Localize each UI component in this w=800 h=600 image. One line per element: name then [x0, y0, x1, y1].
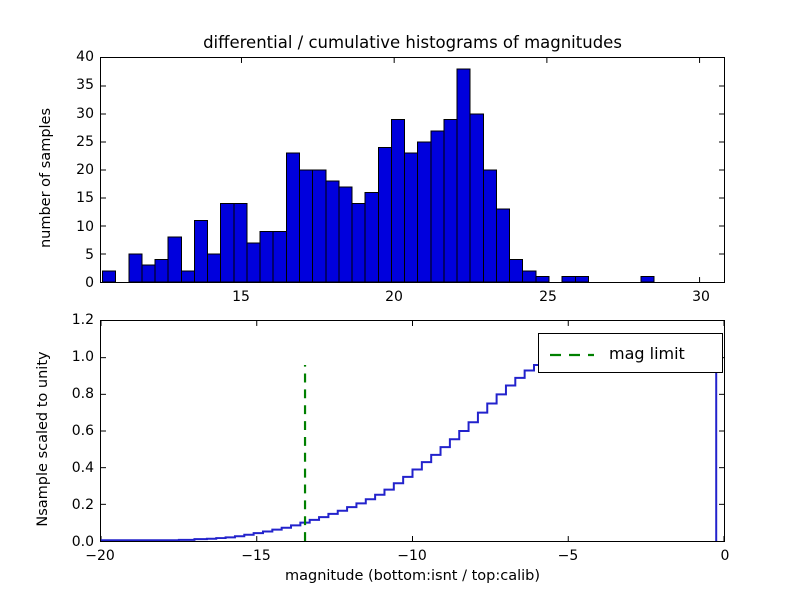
ytick-label-bottom: 0.6 — [72, 423, 94, 439]
differential-histogram-axes — [100, 57, 725, 283]
ytick-label-top: 0 — [85, 275, 94, 291]
ytick-label-bottom: 0.4 — [72, 460, 94, 476]
page-title: differential / cumulative histograms of … — [100, 33, 725, 52]
xtick-label-bottom: −10 — [397, 548, 427, 564]
ytick-label-top: 30 — [76, 106, 94, 122]
ytick-label-top: 40 — [76, 49, 94, 65]
yaxis-label-bottom: Nsample scaled to unity — [35, 328, 51, 550]
ytick-label-bottom: 0.2 — [72, 497, 94, 513]
matplotlib-figure: differential / cumulative histograms of … — [0, 0, 800, 600]
xtick-label-bottom: −15 — [241, 548, 271, 564]
xaxis-label-bottom: magnitude (bottom:isnt / top:calib) — [100, 568, 725, 584]
xtick-label-bottom: −5 — [558, 548, 579, 564]
ytick-label-top: 15 — [76, 190, 94, 206]
ytick-label-bottom: 1.2 — [72, 312, 94, 328]
yaxis-label-top: number of samples — [38, 65, 54, 291]
legend-label-mag-limit: mag limit — [609, 344, 685, 363]
ytick-label-top: 10 — [76, 219, 94, 235]
dashed-line-icon — [549, 352, 595, 354]
ytick-label-bottom: 1.0 — [72, 349, 94, 365]
xtick-label-bottom: −20 — [85, 548, 115, 564]
xtick-label-top: 25 — [539, 289, 557, 305]
ytick-label-top: 25 — [76, 134, 94, 150]
ytick-label-top: 20 — [76, 162, 94, 178]
xtick-label-bottom: 0 — [721, 548, 730, 564]
ytick-label-top: 5 — [85, 247, 94, 263]
legend-box[interactable]: mag limit — [538, 333, 723, 373]
differential-histogram-plot-area — [101, 58, 724, 282]
xtick-label-top: 20 — [385, 289, 403, 305]
xtick-label-top: 30 — [692, 289, 710, 305]
ytick-label-bottom: 0.8 — [72, 386, 94, 402]
ytick-label-top: 35 — [76, 77, 94, 93]
xtick-label-top: 15 — [232, 289, 250, 305]
